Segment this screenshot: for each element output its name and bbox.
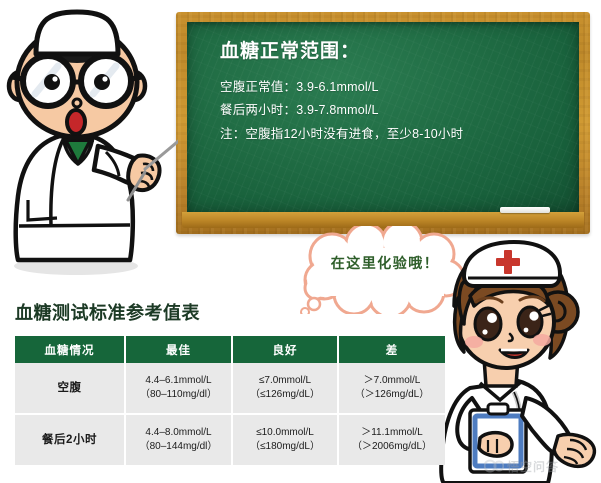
table-title: 血糖测试标准参考值表 xyxy=(15,299,200,325)
table-row: 餐后2小时 4.4–8.0mmol/L （80–144mg/dl） ≤10.0m… xyxy=(15,415,445,465)
cell-value-mmol: ≤10.0mmol/L xyxy=(234,426,336,441)
doctor-illustration xyxy=(2,4,178,276)
cell-value-mmol: 4.4–6.1mmol/L xyxy=(127,374,230,389)
cell-postmeal-best: 4.4–8.0mmol/L （80–144mg/dl） xyxy=(126,415,233,465)
table-row: 空腹 4.4–6.1mmol/L （80–110mg/dl） ≤7.0mmol/… xyxy=(15,363,445,415)
cell-fasting-best: 4.4–6.1mmol/L （80–110mg/dl） xyxy=(126,363,233,415)
blackboard-text-block: 血糖正常范围： 空腹正常值：3.9-6.1mmol/L 餐后两小时：3.9-7.… xyxy=(220,42,574,146)
cell-postmeal-poor: ＞11.1mmol/L （＞2006mg/dL） xyxy=(339,415,445,465)
cell-value-mmol: ≤7.0mmol/L xyxy=(234,374,336,389)
blackboard-line-3: 注：空腹指12小时没有进食，至少8-10小时 xyxy=(220,123,574,147)
cell-value-mmol: ＞7.0mmol/L xyxy=(340,374,444,389)
blood-sugar-reference-table: 血糖情况 最佳 良好 差 空腹 4.4–6.1mmol/L （80–110mg/… xyxy=(15,336,445,465)
cell-value-mmol: ＞11.1mmol/L xyxy=(340,426,444,441)
row-label-postmeal: 餐后2小时 xyxy=(15,415,126,465)
image-canvas: 血糖正常范围： 空腹正常值：3.9-6.1mmol/L 餐后两小时：3.9-7.… xyxy=(0,0,601,483)
cell-postmeal-good: ≤10.0mmol/L （≤180mg/dL） xyxy=(233,415,339,465)
blackboard-title: 血糖正常范围： xyxy=(220,42,574,63)
row-label-fasting: 空腹 xyxy=(15,363,126,415)
cell-value-mg: （＞126mg/dL） xyxy=(340,388,444,403)
nurse-illustration xyxy=(418,240,601,483)
table-header-good: 良好 xyxy=(233,336,339,363)
table-header-condition: 血糖情况 xyxy=(15,336,126,363)
cell-value-mmol: 4.4–8.0mmol/L xyxy=(127,426,230,441)
cell-fasting-poor: ＞7.0mmol/L （＞126mg/dL） xyxy=(339,363,445,415)
table-header-poor: 差 xyxy=(339,336,445,363)
nurse-character xyxy=(418,240,601,483)
doctor-character xyxy=(2,4,178,276)
blackboard-line-1: 空腹正常值：3.9-6.1mmol/L xyxy=(220,76,574,100)
blackboard-line-2: 餐后两小时：3.9-7.8mmol/L xyxy=(220,99,574,123)
watermark-text: 悟空问答 xyxy=(507,458,559,475)
cell-value-mg: （＞2006mg/dL） xyxy=(340,440,444,455)
cell-value-mg: （≤180mg/dL） xyxy=(234,440,336,455)
blackboard: 血糖正常范围： 空腹正常值：3.9-6.1mmol/L 餐后两小时：3.9-7.… xyxy=(176,12,590,234)
cell-value-mg: （80–144mg/dl） xyxy=(127,440,230,455)
cell-value-mg: （≤126mg/dL） xyxy=(234,388,336,403)
table-header-best: 最佳 xyxy=(126,336,233,363)
watermark-logo-icon xyxy=(484,457,504,475)
table-header-row: 血糖情况 最佳 良好 差 xyxy=(15,336,445,363)
watermark: 悟空问答 xyxy=(484,455,596,477)
cell-fasting-good: ≤7.0mmol/L （≤126mg/dL） xyxy=(233,363,339,415)
chalk-stick-icon xyxy=(500,207,550,213)
cell-value-mg: （80–110mg/dl） xyxy=(127,388,230,403)
